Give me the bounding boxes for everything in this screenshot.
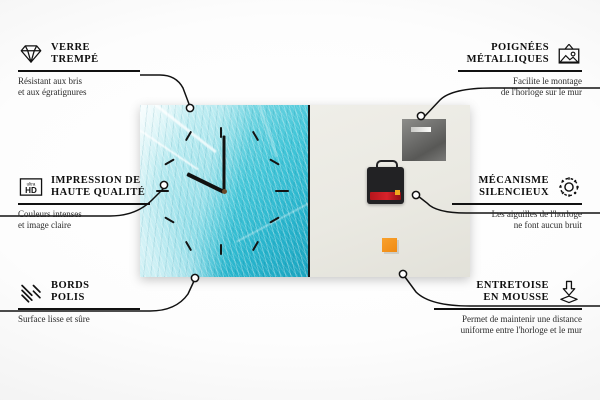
feature-mecanisme-silencieux: MÉCANISME SILENCIEUX Les aiguilles de l'… [452, 174, 582, 231]
feature-title: IMPRESSION DE HAUTE QUALITÉ [51, 175, 145, 200]
feature-title: VERRE TREMPÉ [51, 42, 99, 67]
feature-header: VERRE TREMPÉ [18, 41, 140, 67]
feature-description: Facilite le montage de l'horloge sur le … [458, 76, 582, 99]
feature-description: Résistant aux bris et aux égratignures [18, 76, 140, 99]
minute-hand [223, 136, 226, 192]
feature-title: MÉCANISME SILENCIEUX [478, 175, 549, 200]
hour-marker [156, 190, 169, 192]
feature-impression-hd: ultra HD IMPRESSION DE HAUTE QUALITÉ Cou… [18, 174, 150, 231]
clock-face-panel [140, 105, 310, 277]
feature-title: ENTRETOISE EN MOUSSE [476, 280, 549, 305]
ultra-hd-icon: ultra HD [18, 174, 44, 200]
feature-header: BORDS POLIS [18, 279, 140, 305]
svg-text:HD: HD [25, 186, 37, 195]
feature-entretoise-mousse: ENTRETOISE EN MOUSSE Permet de maintenir… [434, 279, 582, 336]
hand-cap [222, 189, 227, 194]
feature-description: Les aiguilles de l'horloge ne font aucun… [452, 209, 582, 232]
metal-hanger-part [402, 119, 446, 161]
foam-spacer-icon [556, 279, 582, 305]
battery-part [370, 192, 401, 200]
feature-divider [18, 70, 140, 72]
foam-spacer-part [382, 238, 397, 252]
feature-divider [458, 70, 582, 72]
product-image [140, 105, 470, 277]
feature-title: POIGNÉES MÉTALLIQUES [467, 42, 549, 67]
gear-icon [556, 174, 582, 200]
feature-bords-polis: BORDS POLIS Surface lisse et sûre [18, 279, 140, 325]
connector-verre-trempe [140, 75, 189, 104]
diamond-icon [18, 41, 44, 67]
polished-edges-icon [18, 279, 44, 305]
infographic-canvas: VERRE TREMPÉ Résistant aux bris et aux é… [0, 0, 600, 400]
feature-divider [18, 308, 140, 310]
feature-poignees-metalliques: POIGNÉES MÉTALLIQUES Facilite le montage… [458, 41, 582, 98]
feature-description: Surface lisse et sûre [18, 314, 140, 325]
feature-description: Permet de maintenir une distance uniform… [434, 314, 582, 337]
feature-divider [434, 308, 582, 310]
clock-back-panel [310, 105, 470, 277]
feature-verre-trempe: VERRE TREMPÉ Résistant aux bris et aux é… [18, 41, 140, 98]
hour-marker [275, 190, 289, 192]
hour-marker [220, 244, 222, 255]
feature-divider [18, 203, 150, 205]
feature-title: BORDS POLIS [51, 280, 89, 305]
picture-hanger-icon [556, 41, 582, 67]
feature-header: ultra HD IMPRESSION DE HAUTE QUALITÉ [18, 174, 150, 200]
feature-header: ENTRETOISE EN MOUSSE [434, 279, 582, 305]
feature-description: Couleurs intenses et image claire [18, 209, 150, 232]
feature-header: POIGNÉES MÉTALLIQUES [458, 41, 582, 67]
feature-divider [452, 203, 582, 205]
feature-header: MÉCANISME SILENCIEUX [452, 174, 582, 200]
clock-movement-part [367, 167, 404, 204]
